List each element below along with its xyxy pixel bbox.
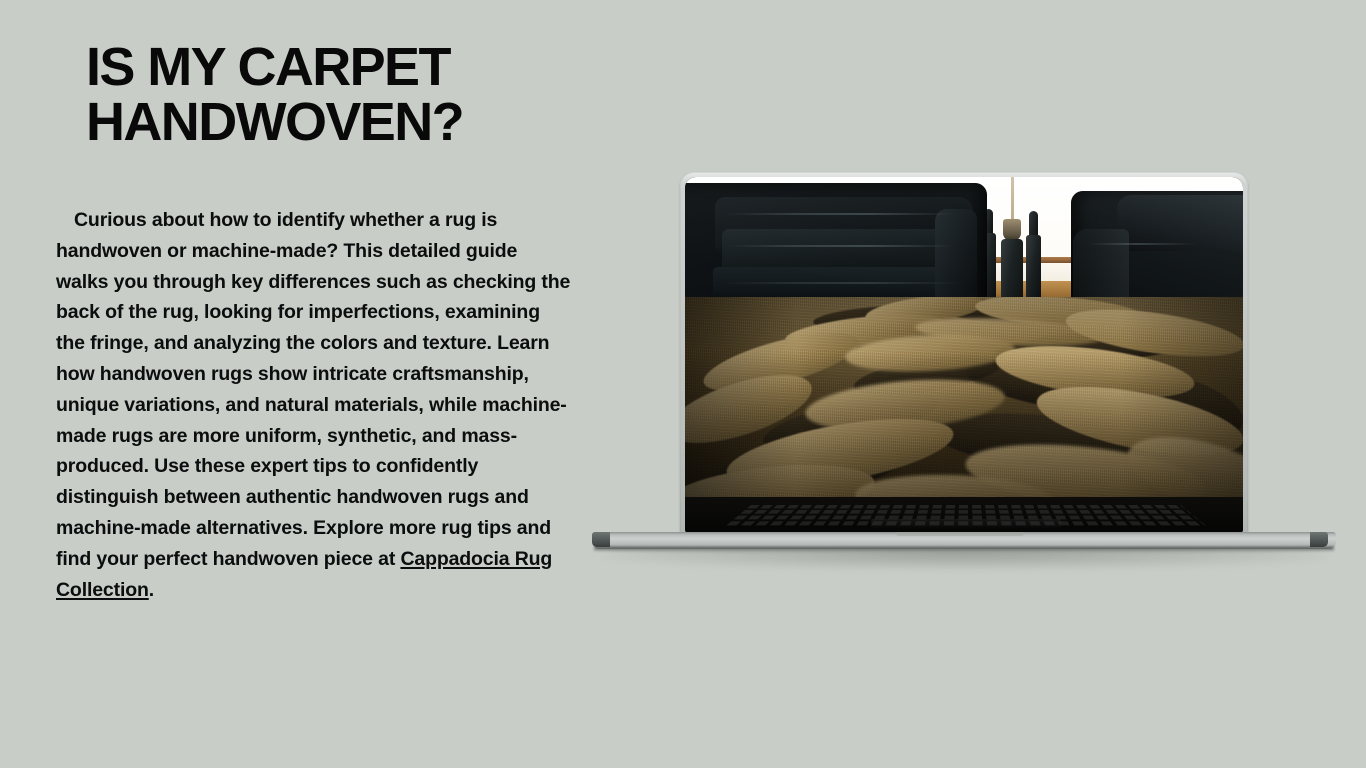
keyboard-reflection — [685, 497, 1243, 532]
body-text-after-link: . — [149, 579, 154, 601]
laptop-foot-left — [592, 532, 610, 547]
pendant-lamp-rod — [1011, 177, 1014, 225]
laptop-base-notch — [896, 532, 1024, 536]
slide-root: IS MY CARPET HANDWOVEN? Curious about ho… — [0, 0, 1366, 768]
page-title: IS MY CARPET HANDWOVEN? — [86, 40, 556, 150]
laptop-screen-glass — [685, 177, 1243, 532]
keyboard-row-1 — [747, 505, 1185, 508]
laptop-base-shadow — [594, 547, 1334, 554]
screen-photo — [685, 177, 1243, 497]
pendant-lamp-shade — [1003, 219, 1021, 241]
body-text-before-link: Curious about how to identify whether a … — [56, 209, 570, 570]
keyboard-row-2 — [740, 510, 1191, 514]
sofa-armrest — [935, 209, 977, 307]
vase-right — [1026, 235, 1041, 301]
sofa-highlight-2 — [727, 245, 955, 247]
swirl-pattern-rug — [685, 297, 1243, 497]
sofa-highlight-1 — [725, 213, 955, 215]
trackpad — [871, 519, 1061, 529]
sofa-highlight-3 — [723, 282, 961, 284]
armchair-highlight — [1087, 243, 1197, 245]
body-paragraph: Curious about how to identify whether a … — [56, 205, 572, 605]
laptop-mockup — [584, 166, 1344, 566]
text-column: IS MY CARPET HANDWOVEN? Curious about ho… — [0, 0, 600, 768]
vase-center — [1001, 239, 1023, 305]
laptop-foot-right — [1310, 532, 1328, 547]
